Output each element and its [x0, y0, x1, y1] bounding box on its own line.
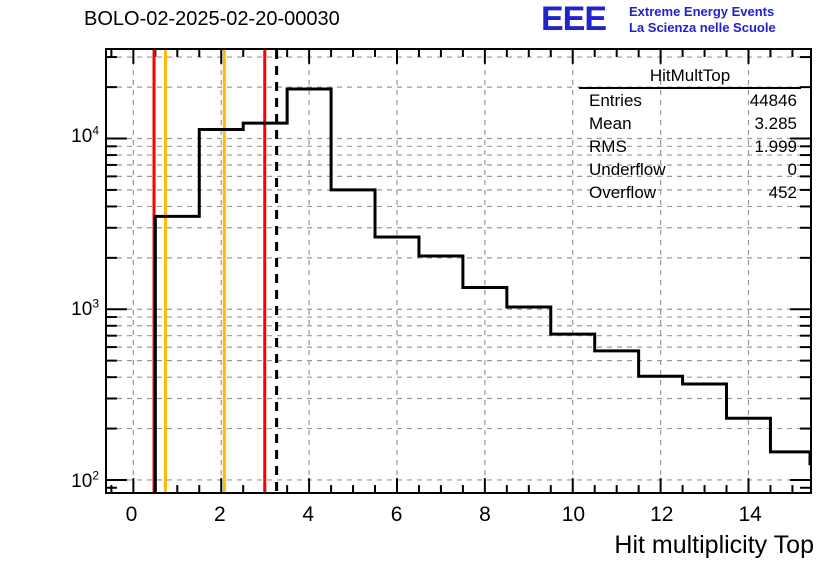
x-axis-title: Hit multiplicity Top [614, 531, 814, 560]
eee-logo-line-1: Extreme Energy Events [629, 4, 774, 19]
stats-key: Entries [589, 89, 642, 112]
x-tick-label-12: 12 [650, 503, 673, 527]
stats-box-title: HitMultTop [579, 66, 801, 89]
x-tick-label-0: 0 [126, 503, 138, 527]
x-tick-label-10: 10 [562, 503, 585, 527]
stats-box-rows: Entries44846Mean3.285RMS1.999Underflow0O… [579, 89, 801, 204]
eee-logo-mark: EEE [541, 3, 627, 35]
stats-row: RMS1.999 [579, 135, 801, 158]
stats-key: RMS [589, 135, 627, 158]
x-tick-label-6: 6 [391, 503, 403, 527]
x-tick-label-14: 14 [738, 503, 761, 527]
y-tick-label-1e4: 104 [37, 126, 99, 148]
stats-key: Mean [589, 112, 632, 135]
stats-key: Overflow [589, 181, 656, 204]
eee-logo: EEE Extreme Energy Events La Scienza nel… [541, 2, 834, 38]
stats-row: Entries44846 [579, 89, 801, 112]
stats-value: 3.285 [754, 112, 797, 135]
stats-key: Underflow [589, 158, 666, 181]
eee-logo-line-2: La Scienza nelle Scuole [629, 20, 776, 35]
x-tick-label-8: 8 [479, 503, 491, 527]
x-tick-label-2: 2 [214, 503, 226, 527]
stats-value: 1.999 [754, 135, 797, 158]
page-title: BOLO-02-2025-02-20-00030 [84, 8, 340, 31]
stats-row: Mean3.285 [579, 112, 801, 135]
stats-value: 44846 [750, 89, 797, 112]
stats-row: Underflow0 [579, 158, 801, 181]
x-tick-label-4: 4 [302, 503, 314, 527]
stats-row: Overflow452 [579, 181, 801, 204]
root-canvas: BOLO-02-2025-02-20-00030 EEE Extreme Ene… [0, 0, 836, 572]
stats-value: 0 [788, 158, 797, 181]
y-tick-label-1e3: 103 [37, 299, 99, 321]
y-tick-label-1e2: 102 [37, 471, 99, 493]
stats-value: 452 [769, 181, 797, 204]
stats-box: HitMultTop Entries44846Mean3.285RMS1.999… [579, 66, 801, 204]
